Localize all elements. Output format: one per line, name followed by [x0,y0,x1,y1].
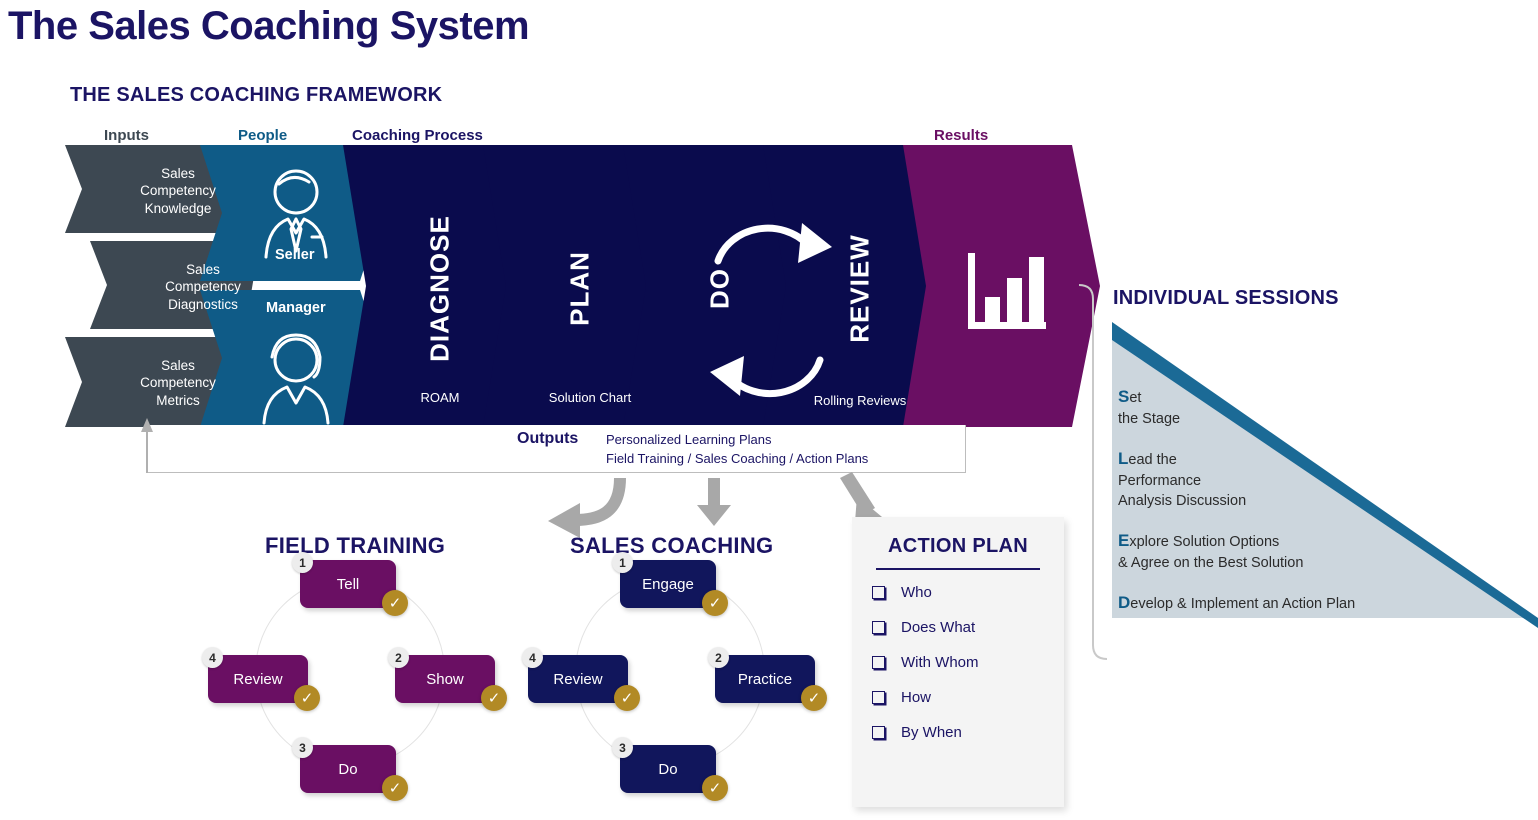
outputs-line-2: Field Training / Sales Coaching / Action… [606,450,868,469]
results-chevron [903,145,1100,427]
sessions-item-rest: xplore Solution Options& Agree on the Be… [1118,534,1303,571]
framework-title: THE SALES COACHING FRAMEWORK [70,84,442,107]
cycle-check-icon-1: ✓ [382,590,408,616]
cycle-check-icon-3: ✓ [702,775,728,801]
action-plan-item-label: How [901,689,931,706]
sales-coaching-title: SALES COACHING [570,533,773,559]
checkbox-icon[interactable] [872,621,885,634]
cycle-number-badge-1: 1 [292,552,313,573]
sessions-item-cap: S [1118,387,1129,406]
cycle-number-badge-4: 4 [202,647,223,668]
checkbox-icon[interactable] [872,691,885,704]
cycle-number-badge-1: 1 [612,552,633,573]
column-header-people: People [238,127,287,144]
action-plan-row[interactable]: How [872,689,1044,706]
sessions-item-cap: L [1118,449,1128,468]
cycle-check-icon-3: ✓ [382,775,408,801]
checkbox-icon[interactable] [872,586,885,599]
checkbox-icon[interactable] [872,726,885,739]
action-plan-row[interactable]: With Whom [872,654,1044,671]
arrow-to-field-training [548,478,620,538]
cycle-check-icon-4: ✓ [614,685,640,711]
arrow-to-sales-coaching [697,478,731,526]
action-plan-row[interactable]: Who [872,584,1044,601]
framework-band: SalesCompetencyKnowledge SalesCompetency… [60,145,1100,430]
cycle-number-badge-2: 2 [388,647,409,668]
sessions-item: Setthe Stage [1118,385,1448,430]
cycle-node-label: Practice [738,671,792,688]
cycle-check-icon-2: ✓ [801,685,827,711]
cycle-node-label: Review [233,671,282,688]
sessions-item-cap: D [1118,593,1130,612]
cycle-node-label: Tell [337,576,360,593]
cycle-node-label: Review [553,671,602,688]
cycle-check-icon-2: ✓ [481,685,507,711]
individual-sessions-list: Setthe Stage Lead thePerformanceAnalysis… [1118,385,1448,632]
action-plan-item-label: Who [901,584,932,601]
cycle-node-label: Show [426,671,464,688]
sessions-item-cap: E [1118,531,1129,550]
sessions-item-rest: evelop & Implement an Action Plan [1130,596,1355,612]
action-plan-item-label: With Whom [901,654,979,671]
action-plan-divider [876,568,1040,570]
cycle-number-badge-3: 3 [612,737,633,758]
individual-sessions-title: INDIVIDUAL SESSIONS [1113,287,1339,310]
page-title: The Sales Coaching System [8,4,529,49]
cycle-number-badge-3: 3 [292,737,313,758]
column-header-results: Results [934,127,988,144]
action-plan-title: ACTION PLAN [872,535,1044,558]
field-training-title: FIELD TRAINING [265,533,445,559]
sessions-item-rest: ead thePerformanceAnalysis Discussion [1118,452,1246,510]
process-group [343,145,958,427]
outputs-line-1: Personalized Learning Plans [606,431,868,450]
field-training-cycle: Tell 1 ✓ Show 2 ✓ Do 3 ✓ Review 4 ✓ [200,560,500,810]
action-plan-item-label: Does What [901,619,975,636]
cycle-number-badge-2: 2 [708,647,729,668]
outputs-lines: Personalized Learning Plans Field Traini… [606,431,868,469]
cycle-node-label: Do [658,761,677,778]
column-header-process: Coaching Process [352,127,483,144]
sales-coaching-cycle: Engage 1 ✓ Practice 2 ✓ Do 3 ✓ Review 4 … [520,560,820,810]
cycle-node-label: Do [338,761,357,778]
sessions-item: Explore Solution Options& Agree on the B… [1118,529,1448,574]
cycle-node-review[interactable]: Review [208,655,308,703]
checkbox-icon[interactable] [872,656,885,669]
cycle-check-icon-4: ✓ [294,685,320,711]
cycle-node-practice[interactable]: Practice [715,655,815,703]
sessions-item: Develop & Implement an Action Plan [1118,591,1448,615]
cycle-node-label: Engage [642,576,694,593]
action-plan-row[interactable]: Does What [872,619,1044,636]
column-header-inputs: Inputs [104,127,149,144]
arrow-to-action-plan [840,472,882,522]
sessions-item: Lead thePerformanceAnalysis Discussion [1118,447,1448,512]
action-plan-panel: ACTION PLAN Who Does What With Whom How … [852,517,1064,807]
cycle-node-show[interactable]: Show [395,655,495,703]
cycle-node-review[interactable]: Review [528,655,628,703]
outputs-label: Outputs [517,430,578,448]
action-plan-row[interactable]: By When [872,724,1044,741]
slide-canvas: The Sales Coaching System THE SALES COAC… [0,0,1538,820]
action-plan-item-label: By When [901,724,962,741]
cycle-check-icon-1: ✓ [702,590,728,616]
cycle-number-badge-4: 4 [522,647,543,668]
